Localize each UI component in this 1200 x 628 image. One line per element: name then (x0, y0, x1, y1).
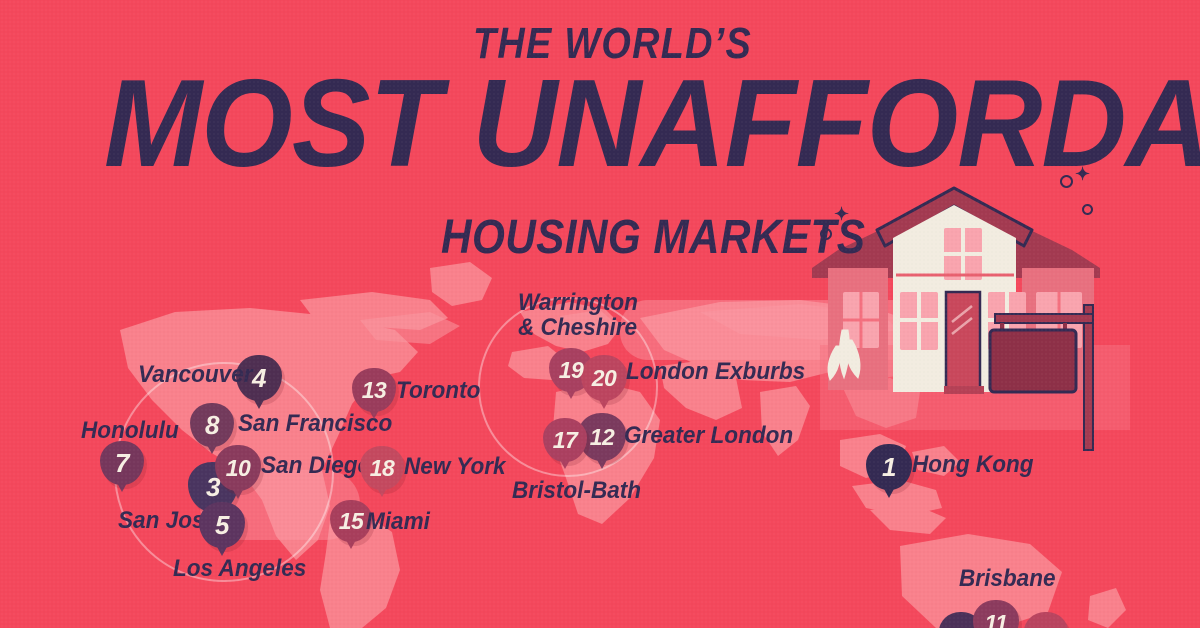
marker-rank: 3 (206, 474, 220, 500)
marker-label: San Diego (261, 453, 371, 478)
marker-rank: 1 (882, 454, 896, 480)
map-marker[interactable]: 11 (973, 600, 1019, 628)
marker-label: Brisbane (959, 566, 1056, 591)
marker-label: Bristol-Bath (512, 478, 641, 503)
marker-label: New York (404, 454, 506, 479)
marker-rank: 5 (215, 512, 229, 538)
map-marker[interactable]: 18 (360, 446, 404, 490)
map-marker[interactable]: 1 (866, 444, 912, 490)
marker-label: Hong Kong (912, 452, 1034, 477)
marker-rank: 8 (205, 412, 219, 438)
map-marker[interactable]: 13 (352, 368, 396, 412)
marker-rank: 7 (115, 450, 129, 476)
marker-rank: 4 (252, 365, 266, 391)
marker-label: Toronto (396, 378, 480, 403)
marker-label: Los Angeles (173, 556, 306, 581)
marker-label: Greater London (624, 423, 793, 448)
marker-rank: 12 (590, 426, 615, 449)
marker-rank: 15 (339, 510, 364, 533)
marker-label: Vancouver (138, 362, 253, 387)
marker-label: Honolulu (81, 418, 179, 443)
infographic-canvas: ✦ ✦ (0, 0, 1200, 628)
map-markers: 1Hong Kong3San Jose4Vancouver5Los Angele… (0, 0, 1200, 628)
marker-rank: 20 (592, 367, 617, 390)
marker-rank: 13 (362, 379, 387, 402)
marker-rank: 11 (985, 612, 1008, 628)
marker-label: Warrington & Cheshire (518, 290, 638, 341)
marker-rank: 19 (559, 359, 584, 382)
map-marker-partial[interactable] (1024, 612, 1068, 628)
marker-label: London Exburbs (626, 359, 805, 384)
marker-rank: 17 (553, 429, 578, 452)
marker-rank: 10 (226, 457, 251, 480)
marker-label: Miami (366, 509, 430, 534)
marker-rank: 18 (370, 457, 395, 480)
